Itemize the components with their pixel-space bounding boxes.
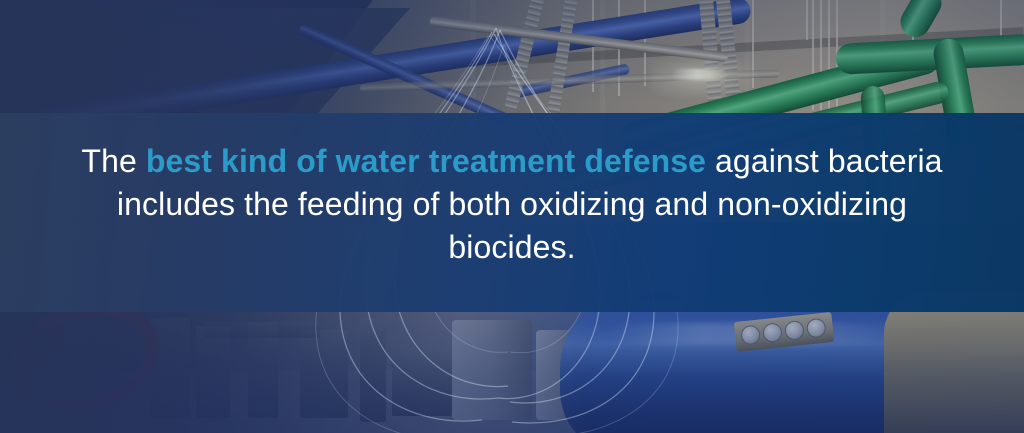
quote-highlight: best kind of water treatment defense (146, 143, 706, 179)
quote-line3: biocides. (448, 229, 575, 265)
quote-line1-suffix: against bacteria (706, 143, 943, 179)
quote-line2: includes the feeding of both oxidizing a… (117, 186, 907, 222)
quote-line1-prefix: The (81, 143, 145, 179)
banner-image: The best kind of water treatment defense… (0, 0, 1024, 433)
quote-text: The best kind of water treatment defense… (62, 140, 962, 269)
